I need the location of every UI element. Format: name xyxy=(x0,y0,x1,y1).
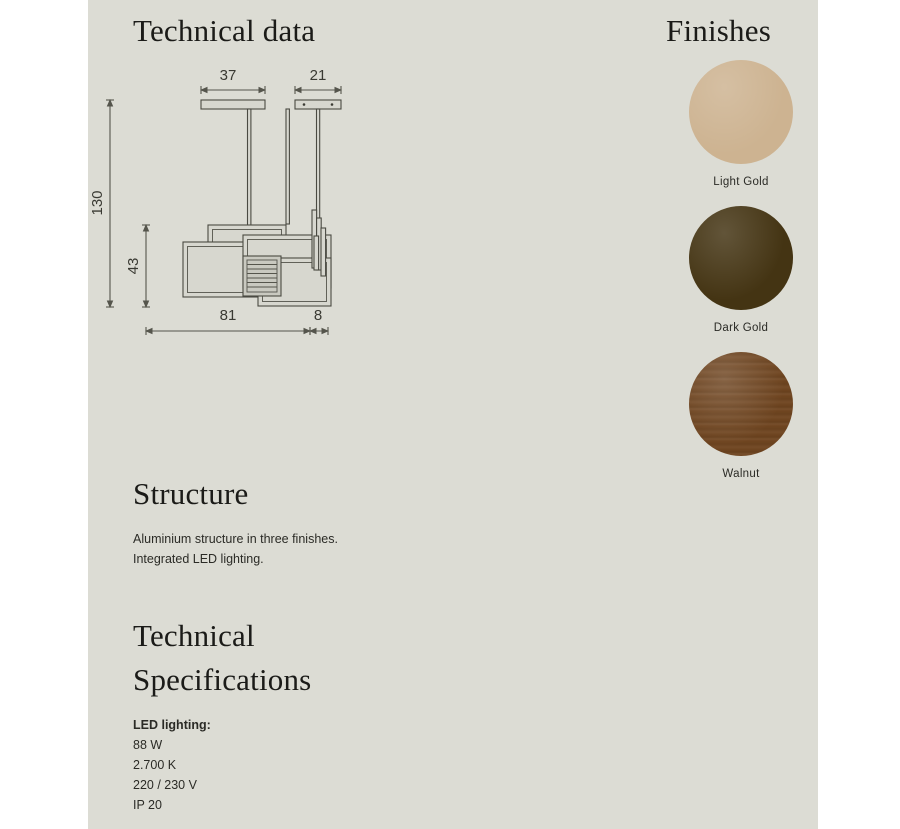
finishes-list: Light Gold Dark Gold Walnut xyxy=(666,60,816,498)
dim-label-side-width-top: 21 xyxy=(310,67,327,84)
finish-label-walnut: Walnut xyxy=(666,468,816,480)
spec-item-voltage: 220 / 230 V xyxy=(133,775,463,795)
tech-spec-title-line-2: Specifications xyxy=(133,658,311,702)
tech-spec-title-line-1: Technical xyxy=(133,614,311,658)
swatch-sheen-overlay xyxy=(689,60,793,164)
finish-swatch-walnut[interactable] xyxy=(689,352,793,456)
structure-description: Aluminium structure in three finishes. I… xyxy=(133,530,463,569)
finish-item-walnut[interactable]: Walnut xyxy=(666,352,816,480)
finish-swatch-light-gold[interactable] xyxy=(689,60,793,164)
dim-label-total-height: 130 xyxy=(89,190,106,215)
finish-label-light-gold: Light Gold xyxy=(666,176,816,188)
dim-label-front-width-bottom: 81 xyxy=(220,307,237,324)
dim-label-fixture-height: 43 xyxy=(125,258,142,275)
swatch-sheen-overlay xyxy=(689,352,793,456)
spec-item-wattage: 88 W xyxy=(133,735,463,755)
page-title-technical-data: Technical data xyxy=(133,12,315,50)
technical-drawing: .ln{stroke:#4a4a42;stroke-width:1.1;fill… xyxy=(88,60,418,360)
structure-line-2: Integrated LED lighting. xyxy=(133,550,463,570)
page-title-finishes: Finishes xyxy=(666,12,771,50)
section-title-technical-specifications: Technical Specifications xyxy=(133,614,311,702)
spec-heading-led-lighting: LED lighting: xyxy=(133,715,463,735)
dim-label-front-width-top: 37 xyxy=(220,67,237,84)
spec-item-ip-rating: IP 20 xyxy=(133,795,463,815)
section-title-structure: Structure xyxy=(133,475,248,513)
technical-specifications-list: LED lighting: 88 W 2.700 K 220 / 230 V I… xyxy=(133,715,463,815)
swatch-sheen-overlay xyxy=(689,206,793,310)
dim-label-side-depth-bottom: 8 xyxy=(314,307,322,324)
page-canvas: Technical data Finishes .ln{stroke:#4a4a… xyxy=(88,0,818,829)
finish-item-dark-gold[interactable]: Dark Gold xyxy=(666,206,816,334)
spec-item-color-temperature: 2.700 K xyxy=(133,755,463,775)
finish-item-light-gold[interactable]: Light Gold xyxy=(666,60,816,188)
finish-swatch-dark-gold[interactable] xyxy=(689,206,793,310)
structure-line-1: Aluminium structure in three finishes. xyxy=(133,530,463,550)
finish-label-dark-gold: Dark Gold xyxy=(666,322,816,334)
